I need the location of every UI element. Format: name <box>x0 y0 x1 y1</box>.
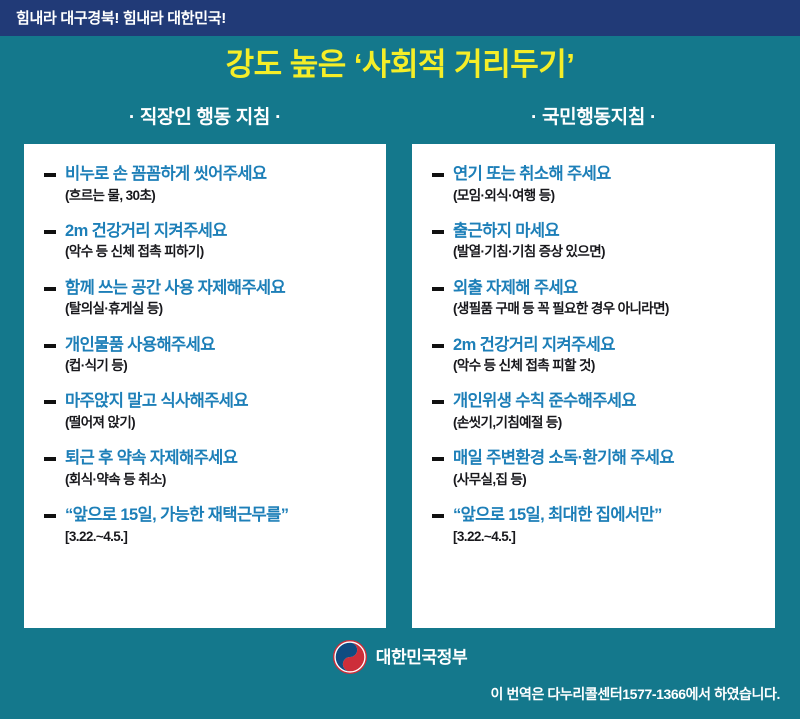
list-item-subtitle: (흐르는 물, 30초) <box>65 187 372 205</box>
dash-bullet-icon <box>44 400 56 404</box>
list-item: 함께 쓰는 공간 사용 자제해주세요 (탈의실·휴게실 등) <box>38 278 372 319</box>
list-item-title: 매일 주변환경 소독·환기해 주세요 <box>453 448 761 469</box>
list-item: “앞으로 15일, 최대한 집에서만” [3.22.~4.5.] <box>426 505 761 546</box>
guidelines-card-public: 연기 또는 취소해 주세요 (모임·외식·여행 등) 출근하지 마세요 (발열·… <box>412 144 775 628</box>
list-item-title: 외출 자제해 주세요 <box>453 278 761 299</box>
list-item-subtitle: (발열·기침·기침 증상 있으면) <box>453 243 761 261</box>
translation-note: 이 번역은 다누리콜센터1577-1366에서 하였습니다. <box>491 687 780 701</box>
top-banner: 힘내라 대구경북! 힘내라 대한민국! <box>0 0 800 36</box>
page-title: 강도 높은 ‘사회적 거리두기’ <box>0 48 800 82</box>
dash-bullet-icon <box>432 287 444 291</box>
list-item: 퇴근 후 약속 자제해주세요 (회식·약속 등 취소) <box>38 448 372 489</box>
dash-bullet-icon <box>44 514 56 518</box>
dash-bullet-icon <box>432 344 444 348</box>
list-item-title: 퇴근 후 약속 자제해주세요 <box>65 448 372 469</box>
dash-bullet-icon <box>432 457 444 461</box>
taeguk-icon <box>333 640 367 674</box>
list-item-subtitle: [3.22.~4.5.] <box>65 528 372 546</box>
list-item: 마주앉지 말고 식사해주세요 (떨어져 앉기) <box>38 391 372 432</box>
list-item-title: 개인위생 수칙 준수해주세요 <box>453 391 761 412</box>
list-item-title: 함께 쓰는 공간 사용 자제해주세요 <box>65 278 372 299</box>
list-item-subtitle: (회식·약속 등 취소) <box>65 471 372 489</box>
list-item: 개인물품 사용해주세요 (컵·식기 등) <box>38 335 372 376</box>
list-item: “앞으로 15일, 가능한 재택근무를” [3.22.~4.5.] <box>38 505 372 546</box>
dash-bullet-icon <box>44 230 56 234</box>
list-item: 개인위생 수칙 준수해주세요 (손씻기,기침예절 등) <box>426 391 761 432</box>
dash-bullet-icon <box>432 173 444 177</box>
list-item-subtitle: (사무실,집 등) <box>453 471 761 489</box>
list-item-title: 개인물품 사용해주세요 <box>65 335 372 356</box>
list-item-subtitle: (컵·식기 등) <box>65 357 372 375</box>
dash-bullet-icon <box>432 400 444 404</box>
list-item: 연기 또는 취소해 주세요 (모임·외식·여행 등) <box>426 164 761 205</box>
list-item-subtitle: [3.22.~4.5.] <box>453 528 761 546</box>
list-item-subtitle: (탈의실·휴게실 등) <box>65 300 372 318</box>
guidelines-card-workers: 비누로 손 꼼꼼하게 씻어주세요 (흐르는 물, 30초) 2m 건강거리 지켜… <box>24 144 386 628</box>
column-header-workers: · 직장인 행동 지침 · <box>24 107 386 130</box>
list-item-title: 연기 또는 취소해 주세요 <box>453 164 761 185</box>
list-item-subtitle: (악수 등 신체 접촉 피하기) <box>65 243 372 261</box>
dash-bullet-icon <box>44 173 56 177</box>
top-banner-text: 힘내라 대구경북! 힘내라 대한민국! <box>16 11 226 26</box>
list-item: 2m 건강거리 지켜주세요 (악수 등 신체 접촉 피하기) <box>38 221 372 262</box>
list-item: 2m 건강거리 지켜주세요 (악수 등 신체 접촉 피할 것) <box>426 335 761 376</box>
dash-bullet-icon <box>432 514 444 518</box>
list-item-subtitle: (생필품 구매 등 꼭 필요한 경우 아니라면) <box>453 300 761 318</box>
list-item-subtitle: (손씻기,기침예절 등) <box>453 414 761 432</box>
government-logo-text: 대한민국정부 <box>376 649 467 666</box>
dash-bullet-icon <box>432 230 444 234</box>
list-item-title: 2m 건강거리 지켜주세요 <box>453 335 761 356</box>
list-item-title: 마주앉지 말고 식사해주세요 <box>65 391 372 412</box>
list-item-title: 출근하지 마세요 <box>453 221 761 242</box>
list-item-title: 2m 건강거리 지켜주세요 <box>65 221 372 242</box>
dash-bullet-icon <box>44 344 56 348</box>
infographic-page: 힘내라 대구경북! 힘내라 대한민국! 강도 높은 ‘사회적 거리두기’ · 직… <box>0 0 800 719</box>
list-item: 외출 자제해 주세요 (생필품 구매 등 꼭 필요한 경우 아니라면) <box>426 278 761 319</box>
list-item-title: “앞으로 15일, 최대한 집에서만” <box>453 505 761 526</box>
list-item-subtitle: (악수 등 신체 접촉 피할 것) <box>453 357 761 375</box>
list-item: 매일 주변환경 소독·환기해 주세요 (사무실,집 등) <box>426 448 761 489</box>
dash-bullet-icon <box>44 457 56 461</box>
guideline-list-public: 연기 또는 취소해 주세요 (모임·외식·여행 등) 출근하지 마세요 (발열·… <box>426 164 761 546</box>
list-item: 출근하지 마세요 (발열·기침·기침 증상 있으면) <box>426 221 761 262</box>
dash-bullet-icon <box>44 287 56 291</box>
government-logo: 대한민국정부 <box>0 640 800 674</box>
column-header-public: · 국민행동지침 · <box>412 107 775 130</box>
list-item-title: 비누로 손 꼼꼼하게 씻어주세요 <box>65 164 372 185</box>
list-item-subtitle: (모임·외식·여행 등) <box>453 187 761 205</box>
list-item-title: “앞으로 15일, 가능한 재택근무를” <box>65 505 372 526</box>
guideline-list-workers: 비누로 손 꼼꼼하게 씻어주세요 (흐르는 물, 30초) 2m 건강거리 지켜… <box>38 164 372 546</box>
list-item-subtitle: (떨어져 앉기) <box>65 414 372 432</box>
list-item: 비누로 손 꼼꼼하게 씻어주세요 (흐르는 물, 30초) <box>38 164 372 205</box>
